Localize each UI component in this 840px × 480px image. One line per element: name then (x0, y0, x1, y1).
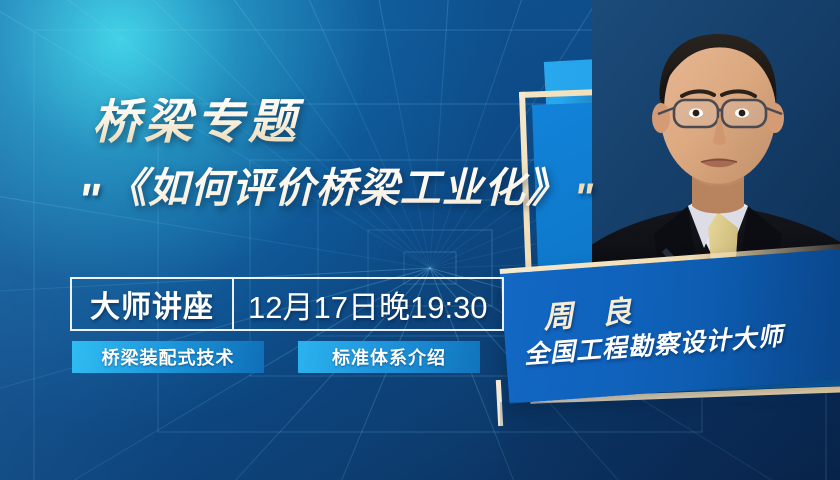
topic-tag: 桥梁装配式技术 (72, 341, 264, 373)
lecture-info-box: 大师讲座 12月17日晚19:30 (70, 277, 504, 331)
subtitle: 《如何评价桥梁工业化》 (106, 154, 568, 214)
quote-close-icon: " (574, 186, 593, 210)
headline-group: 桥梁专题 " 《如何评价桥梁工业化》 " (78, 98, 548, 214)
webinar-poster: 周 良 全国工程勘察设计大师 桥梁专题 " 《如何评价桥梁工业化》 " 大师讲座… (0, 0, 840, 480)
panel-bottom-shadow (500, 402, 840, 480)
lecture-datetime: 12月17日晚19:30 (248, 282, 488, 327)
subtitle-line: " 《如何评价桥梁工业化》 " (78, 154, 548, 214)
lecture-datetime-cell: 12月17日晚19:30 (234, 279, 502, 329)
lecture-label: 大师讲座 (90, 282, 214, 326)
decor-cream-tick (496, 380, 503, 426)
speaker-name-text-group: 周 良 全国工程勘察设计大师 (500, 248, 840, 403)
quote-open-icon: " (78, 187, 100, 215)
topic-tags: 桥梁装配式技术 标准体系介绍 (72, 341, 480, 373)
topic-tag: 标准体系介绍 (298, 341, 480, 373)
page-title: 桥梁专题 (92, 98, 548, 148)
lecture-label-cell: 大师讲座 (72, 279, 232, 329)
